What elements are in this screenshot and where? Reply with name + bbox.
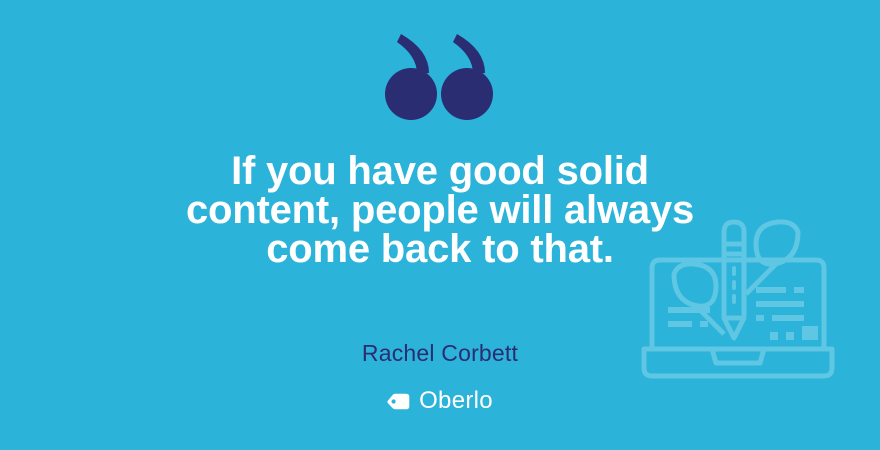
quote-mark — [0, 28, 880, 123]
laptop-screen-outline — [652, 260, 824, 349]
author-name: Rachel Corbett — [0, 340, 880, 367]
brand-lockup: Oberlo — [0, 389, 880, 413]
opening-quotation-mark-icon — [385, 28, 495, 123]
quote-line-3: come back to that. — [24, 230, 856, 269]
quote-text: If you have good solid content, people w… — [0, 152, 880, 269]
leaf-left-icon — [674, 264, 724, 334]
quote-line-2: content, people will always — [24, 191, 856, 230]
brand-name: Oberlo — [419, 389, 493, 413]
quote-card: If you have good solid content, people w… — [0, 0, 880, 450]
text-lines-left — [668, 310, 710, 324]
text-lines-right — [756, 290, 804, 318]
oberlo-tag-icon — [387, 393, 410, 410]
quote-line-1: If you have good solid — [24, 152, 856, 191]
dots-row — [770, 326, 818, 340]
